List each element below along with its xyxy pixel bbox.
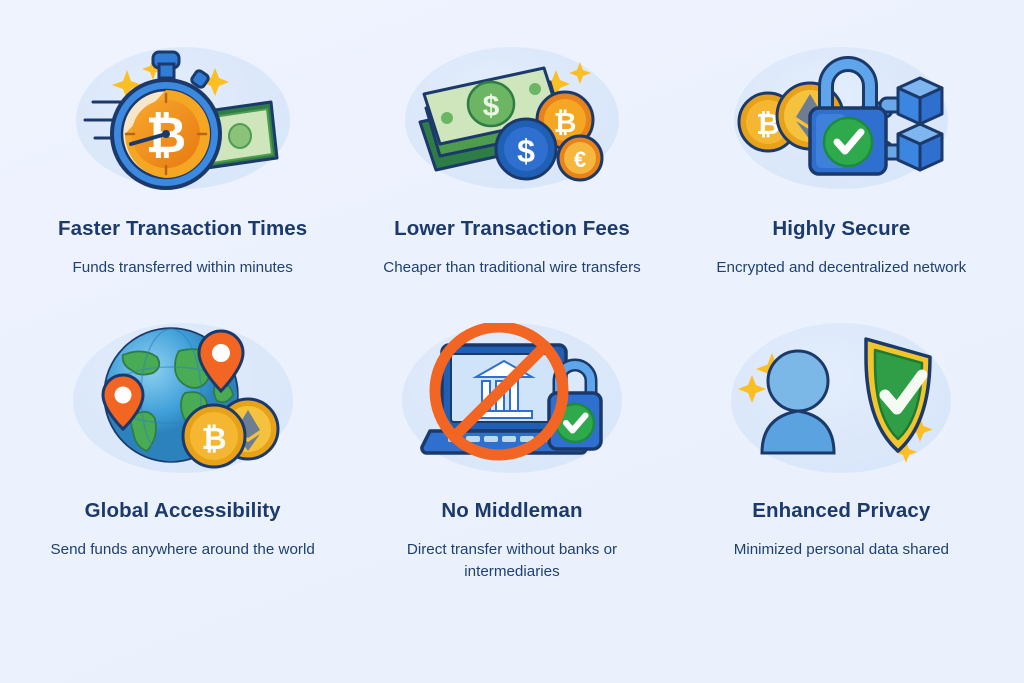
benefits-grid: ₿ Faster Transaction Times Funds transfe… xyxy=(0,0,1024,683)
laptop-bank-prohibited-icon xyxy=(393,320,631,476)
globe-icon-graphic: ₿ xyxy=(75,323,290,473)
card-title: Global Accessibility xyxy=(85,500,281,523)
svg-text:$: $ xyxy=(518,133,536,169)
card-no-middleman: No Middleman Direct transfer without ban… xyxy=(347,320,676,620)
card-title: Lower Transaction Fees xyxy=(394,218,630,241)
blockchain-cube-top-graphic xyxy=(898,78,942,124)
bitcoin-coin-graphic: ₿ xyxy=(183,405,245,467)
card-lower-transaction-fees: $ ₿ € xyxy=(347,42,676,320)
svg-text:$: $ xyxy=(483,90,500,123)
dollar-coin-graphic: $ xyxy=(496,119,556,179)
card-faster-transaction-times: ₿ Faster Transaction Times Funds transfe… xyxy=(18,42,347,320)
stopwatch-bitcoin-banknote-icon: ₿ xyxy=(67,42,299,194)
card-title: No Middleman xyxy=(441,500,582,523)
padlock-blockchain-icon-graphic: ₿ xyxy=(734,46,949,191)
svg-text:₿: ₿ xyxy=(202,421,227,456)
banknotes-coins-icon-graphic: $ ₿ € xyxy=(404,46,619,191)
green-check-graphic xyxy=(824,118,872,166)
card-title: Faster Transaction Times xyxy=(58,218,307,241)
card-global-accessibility: ₿ Global Accessibility Send funds anywhe… xyxy=(18,320,347,620)
card-enhanced-privacy: Enhanced Privacy Minimized personal data… xyxy=(677,320,1006,620)
svg-text:€: € xyxy=(574,147,586,172)
person-shield-check-icon xyxy=(722,320,960,476)
padlock-blockchain-icon: ₿ xyxy=(725,42,957,194)
card-subtitle: Cheaper than traditional wire transfers xyxy=(383,257,640,279)
laptop-bank-icon-graphic xyxy=(404,323,619,473)
svg-text:₿: ₿ xyxy=(554,107,577,138)
globe-pins-coins-icon: ₿ xyxy=(64,320,302,476)
card-subtitle: Direct transfer without banks or interme… xyxy=(376,539,648,583)
card-highly-secure: ₿ xyxy=(677,42,1006,320)
card-subtitle: Minimized personal data shared xyxy=(734,539,949,561)
person-silhouette-graphic xyxy=(762,351,834,453)
stopwatch-icon-graphic: ₿ xyxy=(75,46,290,191)
benefits-infographic: ₿ Faster Transaction Times Funds transfe… xyxy=(0,0,1024,683)
blockchain-cube-bottom-graphic xyxy=(898,124,942,170)
card-subtitle: Encrypted and decentralized network xyxy=(716,257,966,279)
euro-coin-graphic: € xyxy=(558,136,602,180)
banknotes-coins-icon: $ ₿ € xyxy=(396,42,628,194)
card-title: Highly Secure xyxy=(772,218,910,241)
card-title: Enhanced Privacy xyxy=(752,500,930,523)
card-subtitle: Send funds anywhere around the world xyxy=(51,539,315,561)
card-subtitle: Funds transferred within minutes xyxy=(73,257,293,279)
stopwatch-graphic: ₿ xyxy=(112,52,220,188)
person-shield-icon-graphic xyxy=(734,323,949,473)
